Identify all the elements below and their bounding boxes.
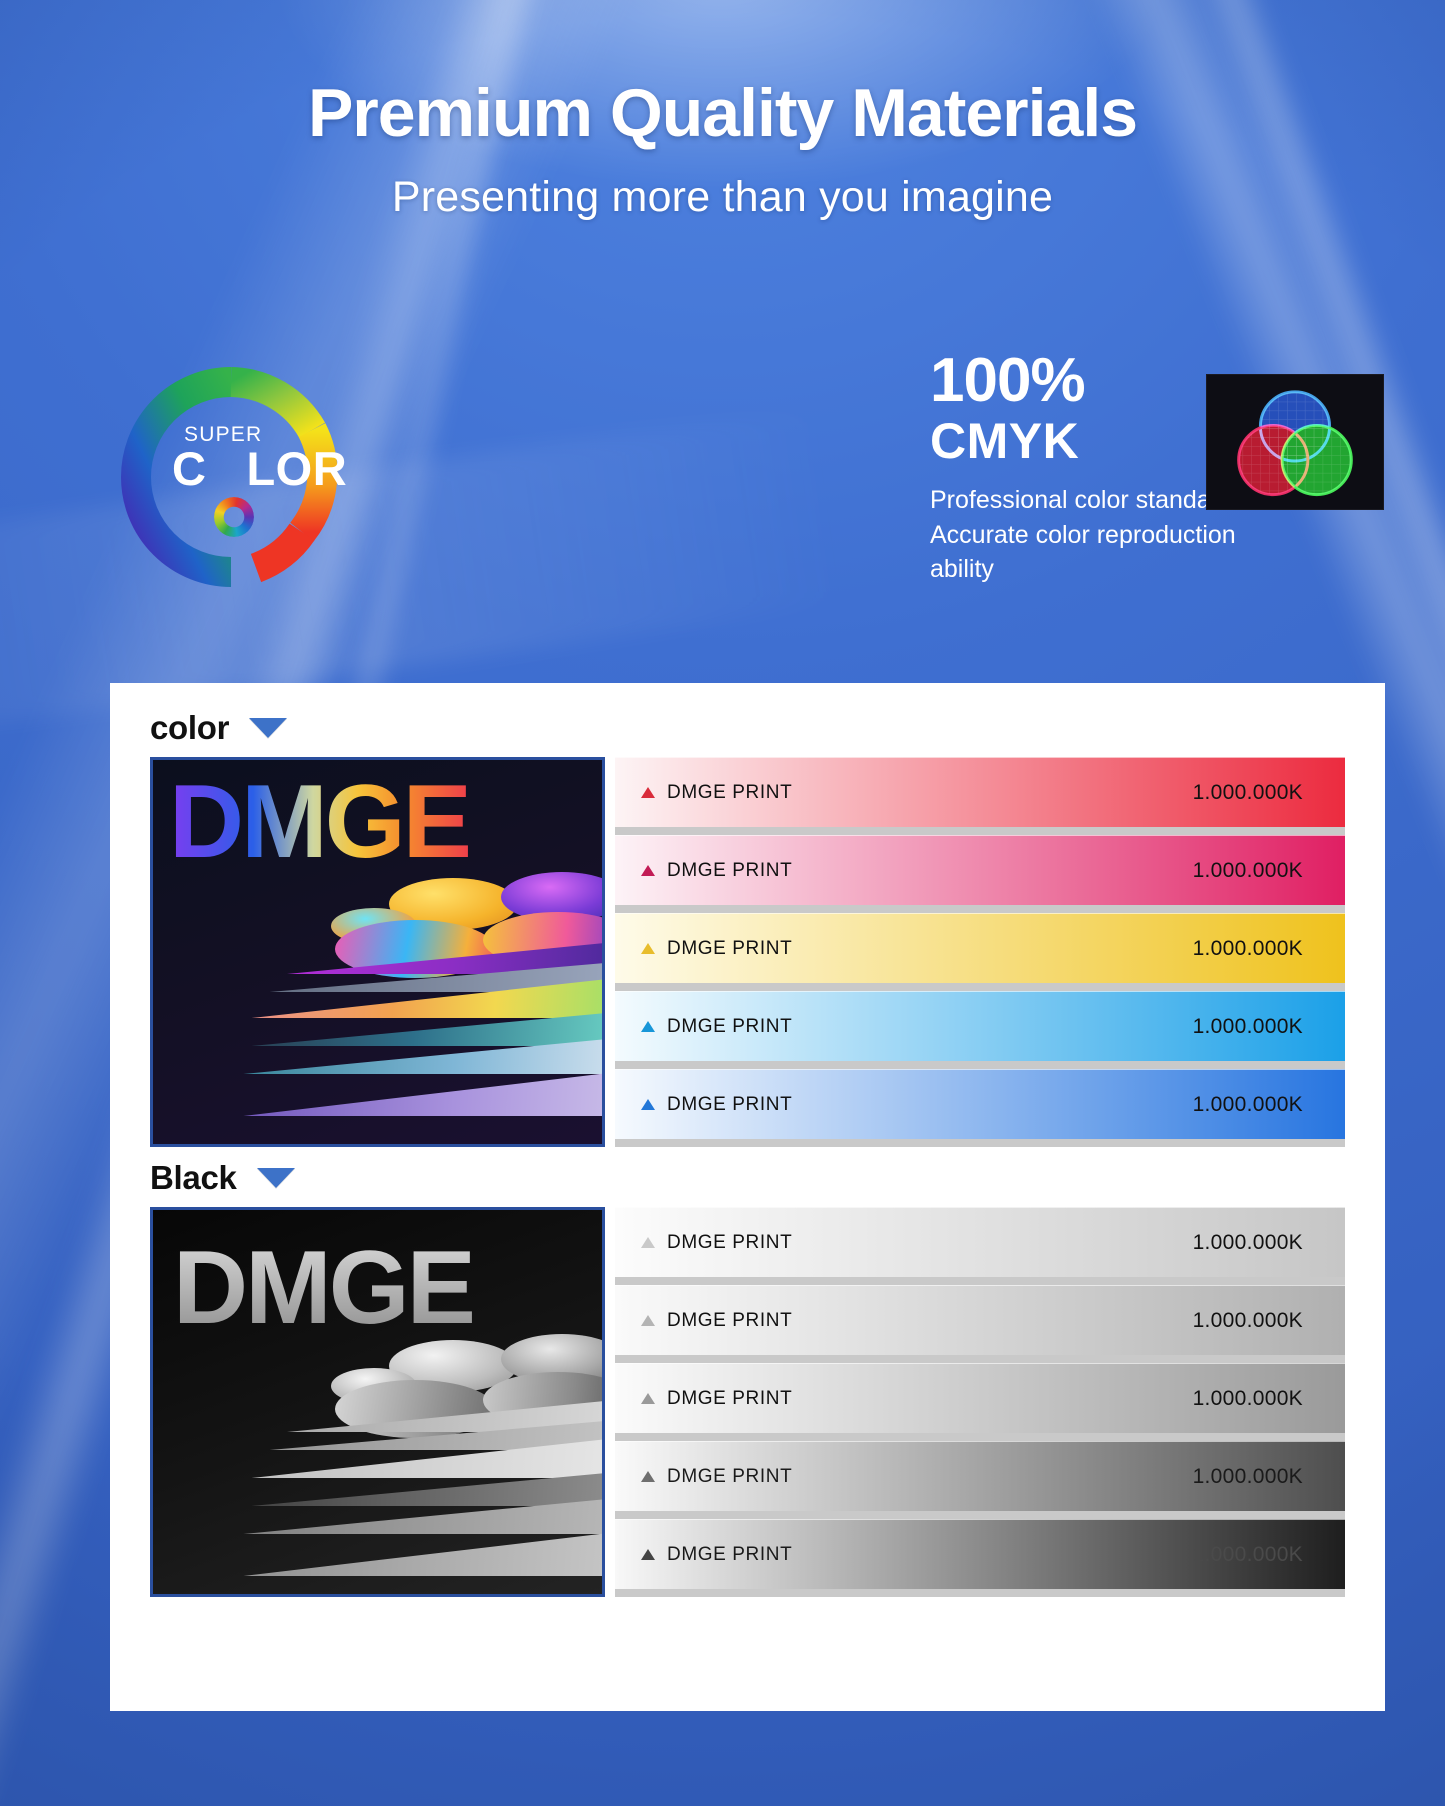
triangle-marker-icon	[641, 1315, 655, 1326]
section-color-title: color	[150, 709, 229, 747]
triangle-marker-icon	[641, 1237, 655, 1248]
table-row[interactable]: DMGE PRINT 1.000.000K	[615, 991, 1345, 1061]
bar-label: DMGE PRINT	[667, 1466, 792, 1488]
triangle-marker-icon	[641, 1471, 655, 1482]
black-thumbnail[interactable]: DMGE	[150, 1207, 605, 1597]
logo-color-label: CLOR	[172, 445, 392, 493]
rgb-venn-swatch	[1206, 374, 1384, 510]
bar-value: 1.000.000K	[1193, 1543, 1303, 1567]
table-row[interactable]: DMGE PRINT 1.000.000K	[615, 835, 1345, 905]
color-thumbnail[interactable]: DMGE	[150, 757, 605, 1147]
bar-value: 1.000.000K	[1193, 859, 1303, 883]
bar-value: 1.000.000K	[1193, 1387, 1303, 1411]
table-row[interactable]: DMGE PRINT 1.000.000K	[615, 1207, 1345, 1277]
bar-value: 1.000.000K	[1193, 937, 1303, 961]
triangle-marker-icon	[641, 1549, 655, 1560]
triangle-marker-icon	[641, 1021, 655, 1032]
cmyk-desc-line-3: ability	[930, 552, 1370, 587]
triangle-marker-icon	[641, 943, 655, 954]
section-black-title: Black	[150, 1159, 237, 1197]
bar-value: 1.000.000K	[1193, 1465, 1303, 1489]
bar-label: DMGE PRINT	[667, 1310, 792, 1332]
triangle-marker-icon	[641, 1099, 655, 1110]
black-artwork-wordmark: DMGE	[173, 1236, 473, 1340]
table-row[interactable]: DMGE PRINT 1.000.000K	[615, 1441, 1345, 1511]
super-color-logo: SUPER CLOR	[116, 362, 371, 592]
section-black: Black DMGE	[110, 1147, 1385, 1597]
bar-label: DMGE PRINT	[667, 1544, 792, 1566]
chevron-down-icon[interactable]	[257, 1168, 295, 1188]
logo-color-lor: LOR	[246, 442, 347, 495]
header: Premium Quality Materials Presenting mor…	[0, 78, 1445, 222]
bar-value: 1.000.000K	[1193, 1093, 1303, 1117]
color-bar-list: DMGE PRINT 1.000.000K DMGE PRINT 1.000.0…	[615, 757, 1345, 1147]
bar-label: DMGE PRINT	[667, 1232, 792, 1254]
logo-text: SUPER CLOR	[172, 424, 392, 493]
table-row[interactable]: DMGE PRINT 1.000.000K	[615, 1519, 1345, 1589]
color-artwork-wordmark: DMGE	[169, 770, 469, 874]
chevron-down-icon[interactable]	[249, 718, 287, 738]
page-title: Premium Quality Materials	[0, 78, 1445, 149]
black-bar-list: DMGE PRINT 1.000.000K DMGE PRINT 1.000.0…	[615, 1207, 1345, 1597]
table-row[interactable]: DMGE PRINT 1.000.000K	[615, 757, 1345, 827]
logo-color-c: C	[172, 442, 206, 495]
bar-label: DMGE PRINT	[667, 938, 792, 960]
section-color-header[interactable]: color	[150, 709, 1345, 747]
cmyk-desc-line-2: Accurate color reproduction	[930, 518, 1370, 553]
bar-label: DMGE PRINT	[667, 1388, 792, 1410]
bar-value: 1.000.000K	[1193, 1309, 1303, 1333]
bar-value: 1.000.000K	[1193, 781, 1303, 805]
cmyk-badge: 100% CMYK Professional color standards A…	[930, 352, 1370, 587]
bar-label: DMGE PRINT	[667, 782, 792, 804]
table-row[interactable]: DMGE PRINT 1.000.000K	[615, 1285, 1345, 1355]
logo-color-wheel-icon	[214, 497, 254, 537]
triangle-marker-icon	[641, 787, 655, 798]
table-row[interactable]: DMGE PRINT 1.000.000K	[615, 913, 1345, 983]
bar-label: DMGE PRINT	[667, 1016, 792, 1038]
section-black-body: DMGE DMGE PRINT	[150, 1207, 1345, 1597]
section-color: color DMGE	[110, 683, 1385, 1147]
rgb-venn-icon	[1207, 375, 1383, 509]
bar-value: 1.000.000K	[1193, 1015, 1303, 1039]
table-row[interactable]: DMGE PRINT 1.000.000K	[615, 1363, 1345, 1433]
triangle-marker-icon	[641, 865, 655, 876]
section-black-header[interactable]: Black	[150, 1159, 1345, 1197]
color-artwork: DMGE	[153, 760, 602, 1144]
bar-label: DMGE PRINT	[667, 1094, 792, 1116]
section-color-body: DMGE DMGE PRINT	[150, 757, 1345, 1147]
bar-value: 1.000.000K	[1193, 1231, 1303, 1255]
page-subtitle: Presenting more than you imagine	[0, 173, 1445, 222]
triangle-marker-icon	[641, 1393, 655, 1404]
table-row[interactable]: DMGE PRINT 1.000.000K	[615, 1069, 1345, 1139]
bar-label: DMGE PRINT	[667, 860, 792, 882]
content-panel: color DMGE	[110, 683, 1385, 1711]
badges-row: SUPER CLOR 100% CMYK Professional color …	[0, 352, 1445, 652]
black-artwork: DMGE	[153, 1210, 602, 1594]
